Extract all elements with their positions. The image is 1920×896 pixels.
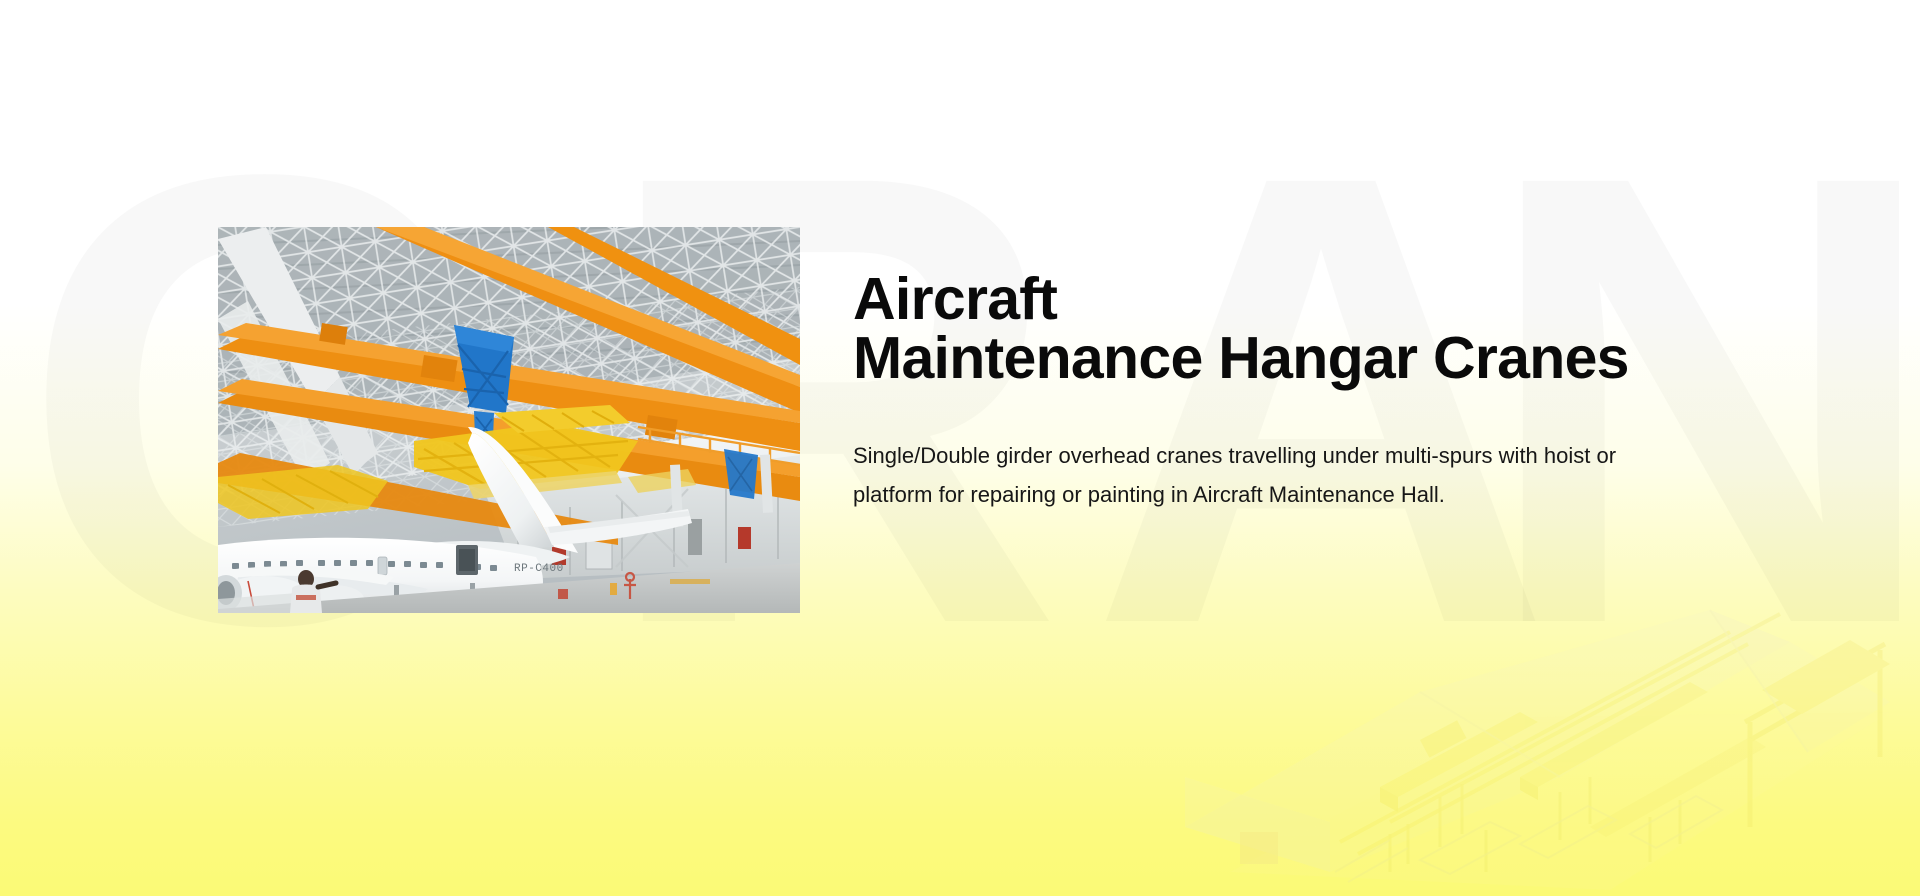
isometric-hangar-illustration <box>1090 572 1920 896</box>
page-title: Aircraft Maintenance Hangar Cranes <box>853 270 1753 388</box>
headline-line-2: Maintenance Hangar Cranes <box>853 329 1753 388</box>
headline-line-1: Aircraft <box>853 266 1057 332</box>
hero-text-block: Aircraft Maintenance Hangar Cranes Singl… <box>853 270 1753 514</box>
hangar-photo: RP-C400 <box>218 227 800 613</box>
svg-text:RP-C400: RP-C400 <box>514 563 564 575</box>
hangar-photo-image: RP-C400 <box>218 227 800 613</box>
hero-description: Single/Double girder overhead cranes tra… <box>853 388 1623 514</box>
hero-banner: C R A N <box>0 0 1920 896</box>
